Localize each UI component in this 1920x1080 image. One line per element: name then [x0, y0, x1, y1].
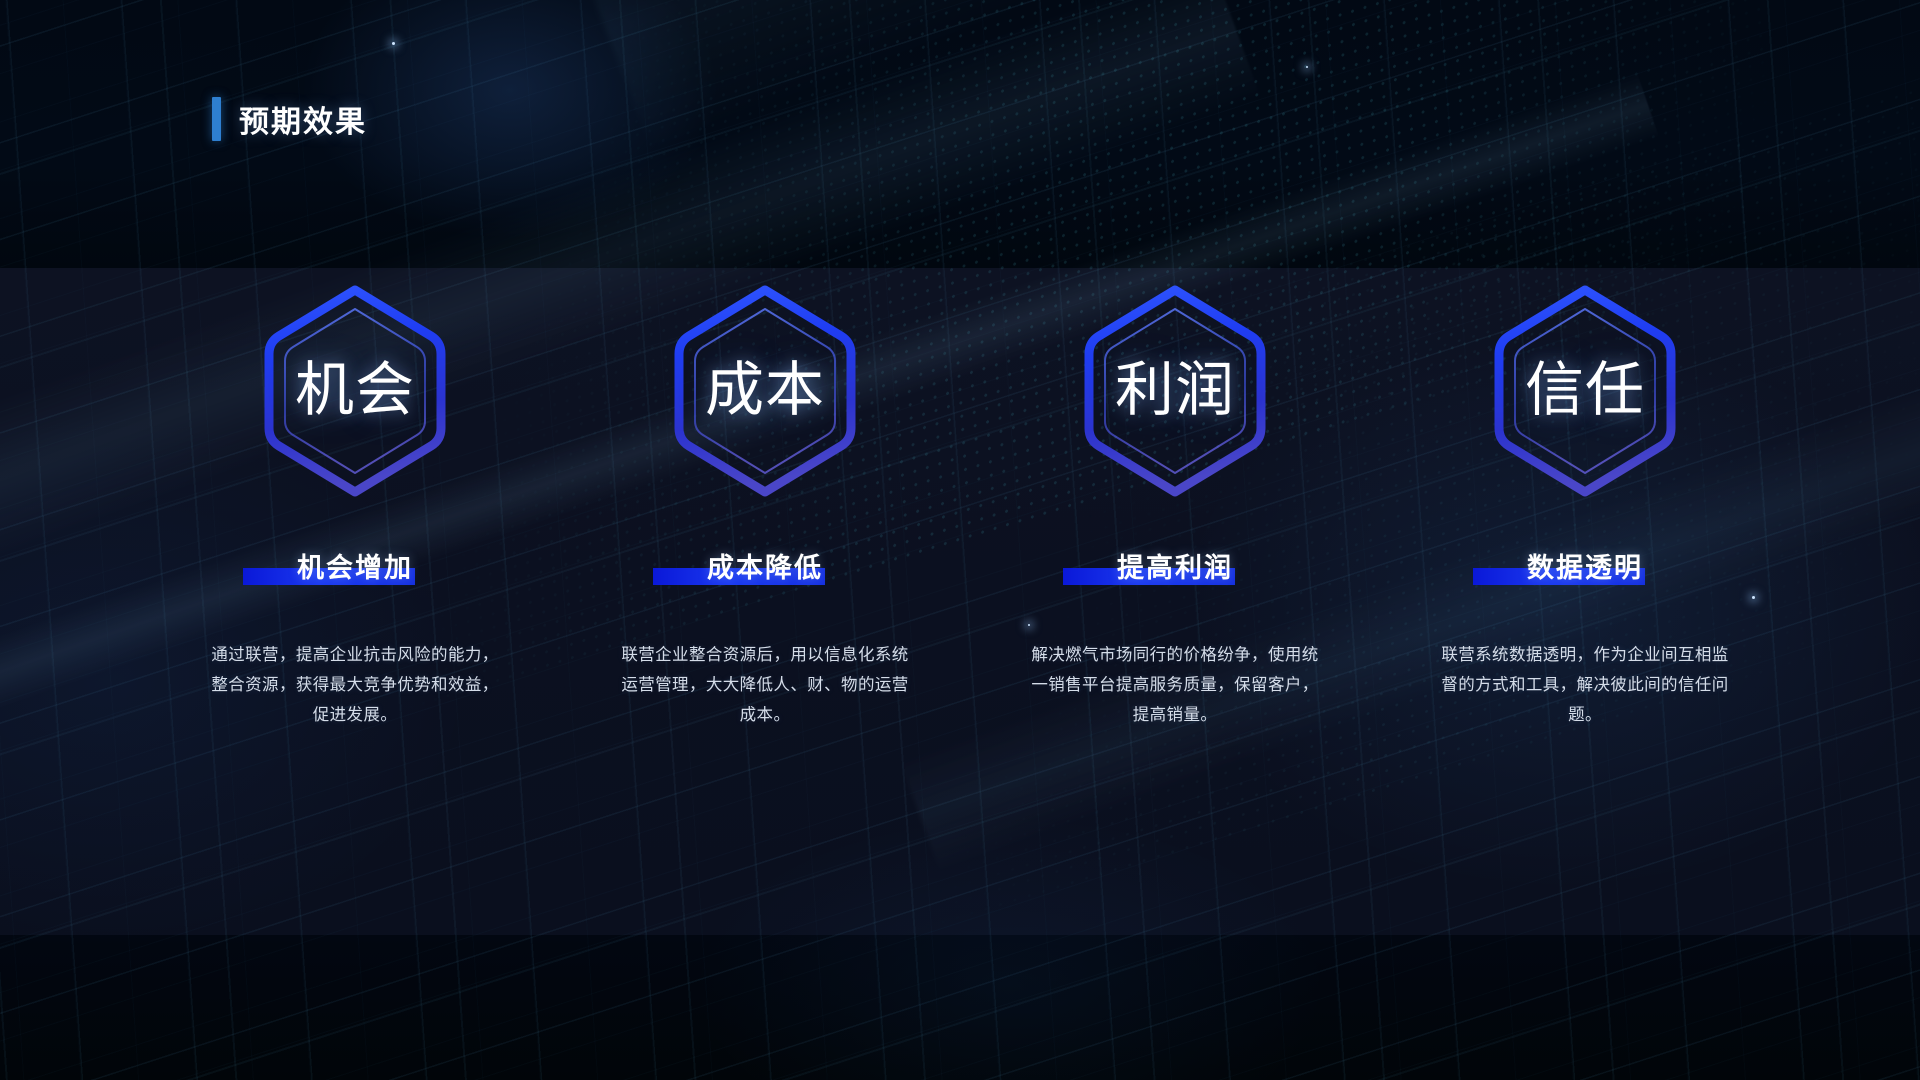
heading-text: 机会增加: [297, 553, 413, 583]
feature-card-row: 机会 机会增加 通过联营，提高企业抗击风险的能力，整合资源，获得最大竞争优势和效…: [150, 282, 1790, 730]
hexagon-badge-label: 机会: [295, 361, 415, 420]
feature-card-profit[interactable]: 利润 提高利润 解决燃气市场同行的价格纷争，使用统一销售平台提高服务质量，保留客…: [970, 282, 1380, 730]
hexagon-badge: 利润: [1075, 282, 1275, 500]
card-description: 解决燃气市场同行的价格纷争，使用统一销售平台提高服务质量，保留客户，提高销量。: [1025, 640, 1325, 730]
card-description: 联营系统数据透明，作为企业间互相监督的方式和工具，解决彼此间的信任问题。: [1435, 640, 1735, 730]
card-heading: 数据透明: [1525, 546, 1645, 585]
heading-text: 数据透明: [1527, 553, 1643, 583]
card-description: 联营企业整合资源后，用以信息化系统运营管理，大大降低人、财、物的运营成本。: [615, 640, 915, 730]
card-heading: 机会增加: [295, 546, 415, 585]
hexagon-badge: 机会: [255, 282, 455, 500]
title-accent-bar: [212, 97, 221, 141]
feature-card-trust[interactable]: 信任 数据透明 联营系统数据透明，作为企业间互相监督的方式和工具，解决彼此间的信…: [1380, 282, 1790, 730]
hexagon-badge-label: 信任: [1525, 361, 1645, 420]
background-band-bottom: [0, 935, 1920, 1080]
hexagon-badge: 成本: [665, 282, 865, 500]
heading-text: 提高利润: [1117, 553, 1233, 583]
card-description: 通过联营，提高企业抗击风险的能力，整合资源，获得最大竞争优势和效益，促进发展。: [205, 640, 505, 730]
feature-card-cost[interactable]: 成本 成本降低 联营企业整合资源后，用以信息化系统运营管理，大大降低人、财、物的…: [560, 282, 970, 730]
page-title: 预期效果: [239, 97, 367, 141]
feature-card-opportunity[interactable]: 机会 机会增加 通过联营，提高企业抗击风险的能力，整合资源，获得最大竞争优势和效…: [150, 282, 560, 730]
hexagon-badge: 信任: [1485, 282, 1685, 500]
page-header: 预期效果: [212, 97, 367, 141]
card-heading: 提高利润: [1115, 546, 1235, 585]
hexagon-badge-label: 利润: [1115, 361, 1235, 420]
hexagon-badge-label: 成本: [705, 361, 825, 420]
heading-text: 成本降低: [707, 553, 823, 583]
slide-canvas: 预期效果: [0, 0, 1920, 1080]
card-heading: 成本降低: [705, 546, 825, 585]
